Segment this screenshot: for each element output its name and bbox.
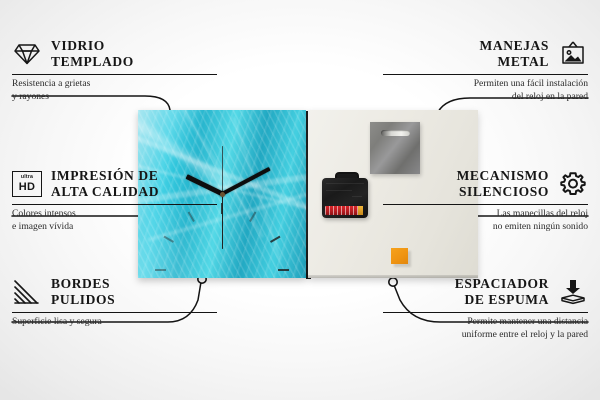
- feature-vidrio-templado: VIDRIOTEMPLADO Resistencia a grietas y r…: [12, 38, 217, 104]
- polished-edges-icon: [12, 277, 42, 307]
- infographic-canvas: VIDRIOTEMPLADO Resistencia a grietas y r…: [0, 0, 600, 400]
- feature-bordes-pulidos: BORDESPULIDOS Superficie lisa y segura: [12, 276, 217, 329]
- foam-spacer-pad: [391, 248, 408, 264]
- feature-subtitle: Las manecillas del reloj no emiten ningú…: [383, 208, 588, 233]
- clock-mechanism: [322, 172, 368, 218]
- mechanism-detail: [352, 196, 362, 197]
- feature-mecanismo-silencioso: MECANISMOSILENCIOSO Las manecillas del r…: [383, 168, 588, 234]
- feature-title: BORDESPULIDOS: [51, 276, 115, 308]
- feature-title-line2: DE ESPUMA: [464, 292, 549, 307]
- feature-header: ESPACIADORDE ESPUMA: [383, 276, 588, 308]
- feature-divider: [383, 204, 588, 206]
- feature-divider: [12, 204, 217, 206]
- feature-impresion-alta-calidad: ultra HD IMPRESIÓN DEALTA CALIDAD Colore…: [12, 168, 217, 234]
- feature-header: ultra HD IMPRESIÓN DEALTA CALIDAD: [12, 168, 217, 200]
- feature-subtitle: Resistencia a grietas y rayones: [12, 78, 217, 103]
- feature-subtitle: Permite mantener una distancia uniforme …: [383, 316, 588, 341]
- mechanism-detail: [326, 183, 364, 184]
- ultra-hd-icon: ultra HD: [12, 169, 42, 199]
- feature-manejas-metal: MANEJASMETAL Permiten una fácil instalac…: [383, 38, 588, 104]
- feature-title-line1: MECANISMO: [457, 168, 549, 183]
- feature-title-line2: TEMPLADO: [51, 54, 134, 69]
- feature-header: MECANISMOSILENCIOSO: [383, 168, 588, 200]
- foam-spacer-icon: [558, 277, 588, 307]
- feature-divider: [12, 312, 217, 314]
- hanger-keyhole-slot: [381, 130, 410, 136]
- ultra-hd-big-label: HD: [19, 182, 36, 193]
- feature-divider: [383, 74, 588, 76]
- feature-title-line1: BORDES: [51, 276, 110, 291]
- diamond-icon: [12, 39, 42, 69]
- clock-hand-hub: [220, 192, 225, 197]
- feature-divider: [383, 312, 588, 314]
- feature-header: MANEJASMETAL: [383, 38, 588, 70]
- feature-title-line1: MANEJAS: [480, 38, 549, 53]
- feature-title-line1: ESPACIADOR: [455, 276, 549, 291]
- feature-header: VIDRIOTEMPLADO: [12, 38, 217, 70]
- feature-title-line2: METAL: [497, 54, 549, 69]
- battery-positive-tip: [358, 206, 363, 215]
- gear-icon: [558, 169, 588, 199]
- mechanism-battery: [325, 206, 363, 215]
- metal-hanger-plate: [370, 122, 420, 174]
- clock-hand-second-top: [222, 146, 223, 194]
- feature-header: BORDESPULIDOS: [12, 276, 217, 308]
- clock-tick-3: [278, 269, 289, 271]
- ultra-hd-box: ultra HD: [12, 171, 42, 197]
- ultra-hd-small-label: ultra: [21, 175, 33, 180]
- feature-subtitle: Colores intensos e imagen vívida: [12, 208, 217, 233]
- feature-divider: [12, 74, 217, 76]
- feature-espaciador-espuma: ESPACIADORDE ESPUMA Permite mantener una…: [383, 276, 588, 342]
- feature-subtitle: Permiten una fácil instalación del reloj…: [383, 78, 588, 103]
- feature-title-line2: ALTA CALIDAD: [51, 184, 159, 199]
- framed-picture-icon: [558, 39, 588, 69]
- clock-tick-9: [155, 269, 166, 271]
- feature-title: MANEJASMETAL: [480, 38, 549, 70]
- feature-title: MECANISMOSILENCIOSO: [457, 168, 549, 200]
- mechanism-body: [322, 178, 368, 218]
- feature-subtitle: Superficie lisa y segura: [12, 316, 217, 329]
- feature-title-line2: SILENCIOSO: [459, 184, 549, 199]
- feature-title-line2: PULIDOS: [51, 292, 115, 307]
- feature-title-line1: IMPRESIÓN DE: [51, 168, 158, 183]
- feature-title: VIDRIOTEMPLADO: [51, 38, 134, 70]
- clock-tick-10: [163, 236, 174, 243]
- feature-title: IMPRESIÓN DEALTA CALIDAD: [51, 168, 159, 200]
- clock-hand-second: [222, 194, 223, 249]
- feature-title-line1: VIDRIO: [51, 38, 105, 53]
- feature-title: ESPACIADORDE ESPUMA: [455, 276, 549, 308]
- mechanism-detail: [326, 190, 352, 191]
